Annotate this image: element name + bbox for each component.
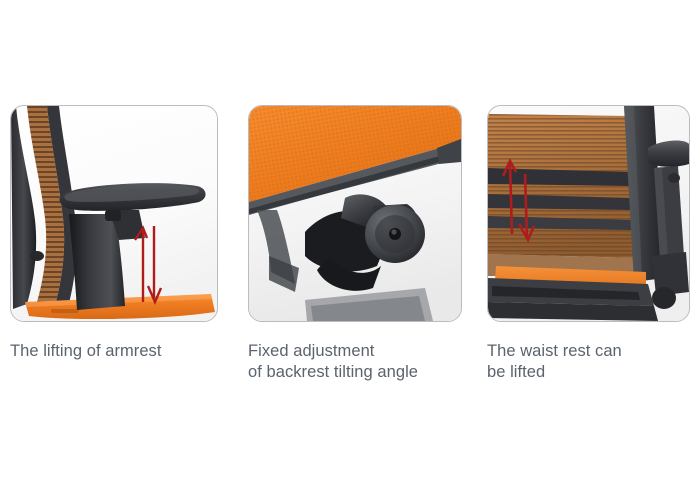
- feature-card-waist-rest[interactable]: The waist rest can be lifted: [487, 105, 690, 383]
- feature-caption-1: The lifting of armrest: [10, 341, 218, 362]
- photo-frame-3: [487, 105, 690, 322]
- photo-armrest: [11, 106, 217, 321]
- photo-frame-2: [248, 105, 462, 322]
- photo-waist-rest: [488, 106, 689, 321]
- feature-caption-2: Fixed adjustment of backrest tilting ang…: [248, 341, 462, 383]
- feature-gallery-page: The lifting of armrest: [0, 0, 700, 500]
- armrest-photo-illustration: [11, 106, 217, 321]
- feature-card-lifting-armrest[interactable]: The lifting of armrest: [10, 105, 218, 362]
- photo-frame-1: [10, 105, 218, 322]
- tilt-knob-photo-illustration: [249, 106, 461, 321]
- feature-row: The lifting of armrest: [0, 0, 700, 500]
- caster-hub: [652, 287, 676, 309]
- photo-tilt-knob: [249, 106, 461, 321]
- waist-rest-photo-illustration: [488, 106, 689, 321]
- feature-caption-3: The waist rest can be lifted: [487, 341, 690, 383]
- feature-card-backrest-tilt[interactable]: Fixed adjustment of backrest tilting ang…: [248, 105, 462, 383]
